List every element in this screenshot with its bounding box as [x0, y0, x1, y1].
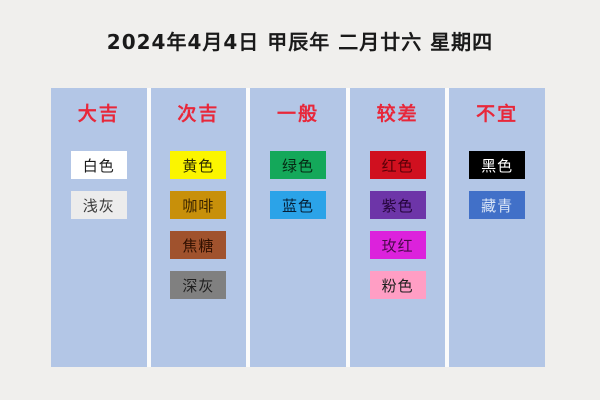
- column-header: 一般: [277, 105, 319, 124]
- fortune-column: 较差红色紫色玫红粉色: [350, 88, 446, 367]
- color-chip-list: 红色紫色玫红粉色: [350, 151, 446, 299]
- fortune-column: 次吉黄色咖啡焦糖深灰: [151, 88, 247, 367]
- color-chip: 黑色: [469, 151, 525, 179]
- column-header: 较差: [377, 105, 419, 124]
- color-chip: 白色: [71, 151, 127, 179]
- color-chip-list: 黑色藏青: [449, 151, 545, 219]
- color-chip: 藏青: [469, 191, 525, 219]
- color-chip-list: 绿色蓝色: [250, 151, 346, 219]
- column-header: 次吉: [177, 105, 219, 124]
- fortune-column: 不宜黑色藏青: [449, 88, 545, 367]
- color-chip: 玫红: [370, 231, 426, 259]
- fortune-column: 大吉白色浅灰: [51, 88, 147, 367]
- color-chip-list: 白色浅灰: [51, 151, 147, 219]
- color-chip: 黄色: [170, 151, 226, 179]
- color-chip: 紫色: [370, 191, 426, 219]
- color-chip: 粉色: [370, 271, 426, 299]
- color-chip: 焦糖: [170, 231, 226, 259]
- color-chip: 深灰: [170, 271, 226, 299]
- column-header: 不宜: [476, 105, 518, 124]
- color-fortune-board: 大吉白色浅灰次吉黄色咖啡焦糖深灰一般绿色蓝色较差红色紫色玫红粉色不宜黑色藏青: [51, 88, 545, 367]
- color-chip-list: 黄色咖啡焦糖深灰: [151, 151, 247, 299]
- color-chip: 绿色: [270, 151, 326, 179]
- column-header: 大吉: [78, 105, 120, 124]
- color-chip: 红色: [370, 151, 426, 179]
- color-chip: 蓝色: [270, 191, 326, 219]
- color-chip: 浅灰: [71, 191, 127, 219]
- page-title: 2024年4月4日 甲辰年 二月廿六 星期四: [0, 26, 600, 55]
- fortune-column: 一般绿色蓝色: [250, 88, 346, 367]
- color-chip: 咖啡: [170, 191, 226, 219]
